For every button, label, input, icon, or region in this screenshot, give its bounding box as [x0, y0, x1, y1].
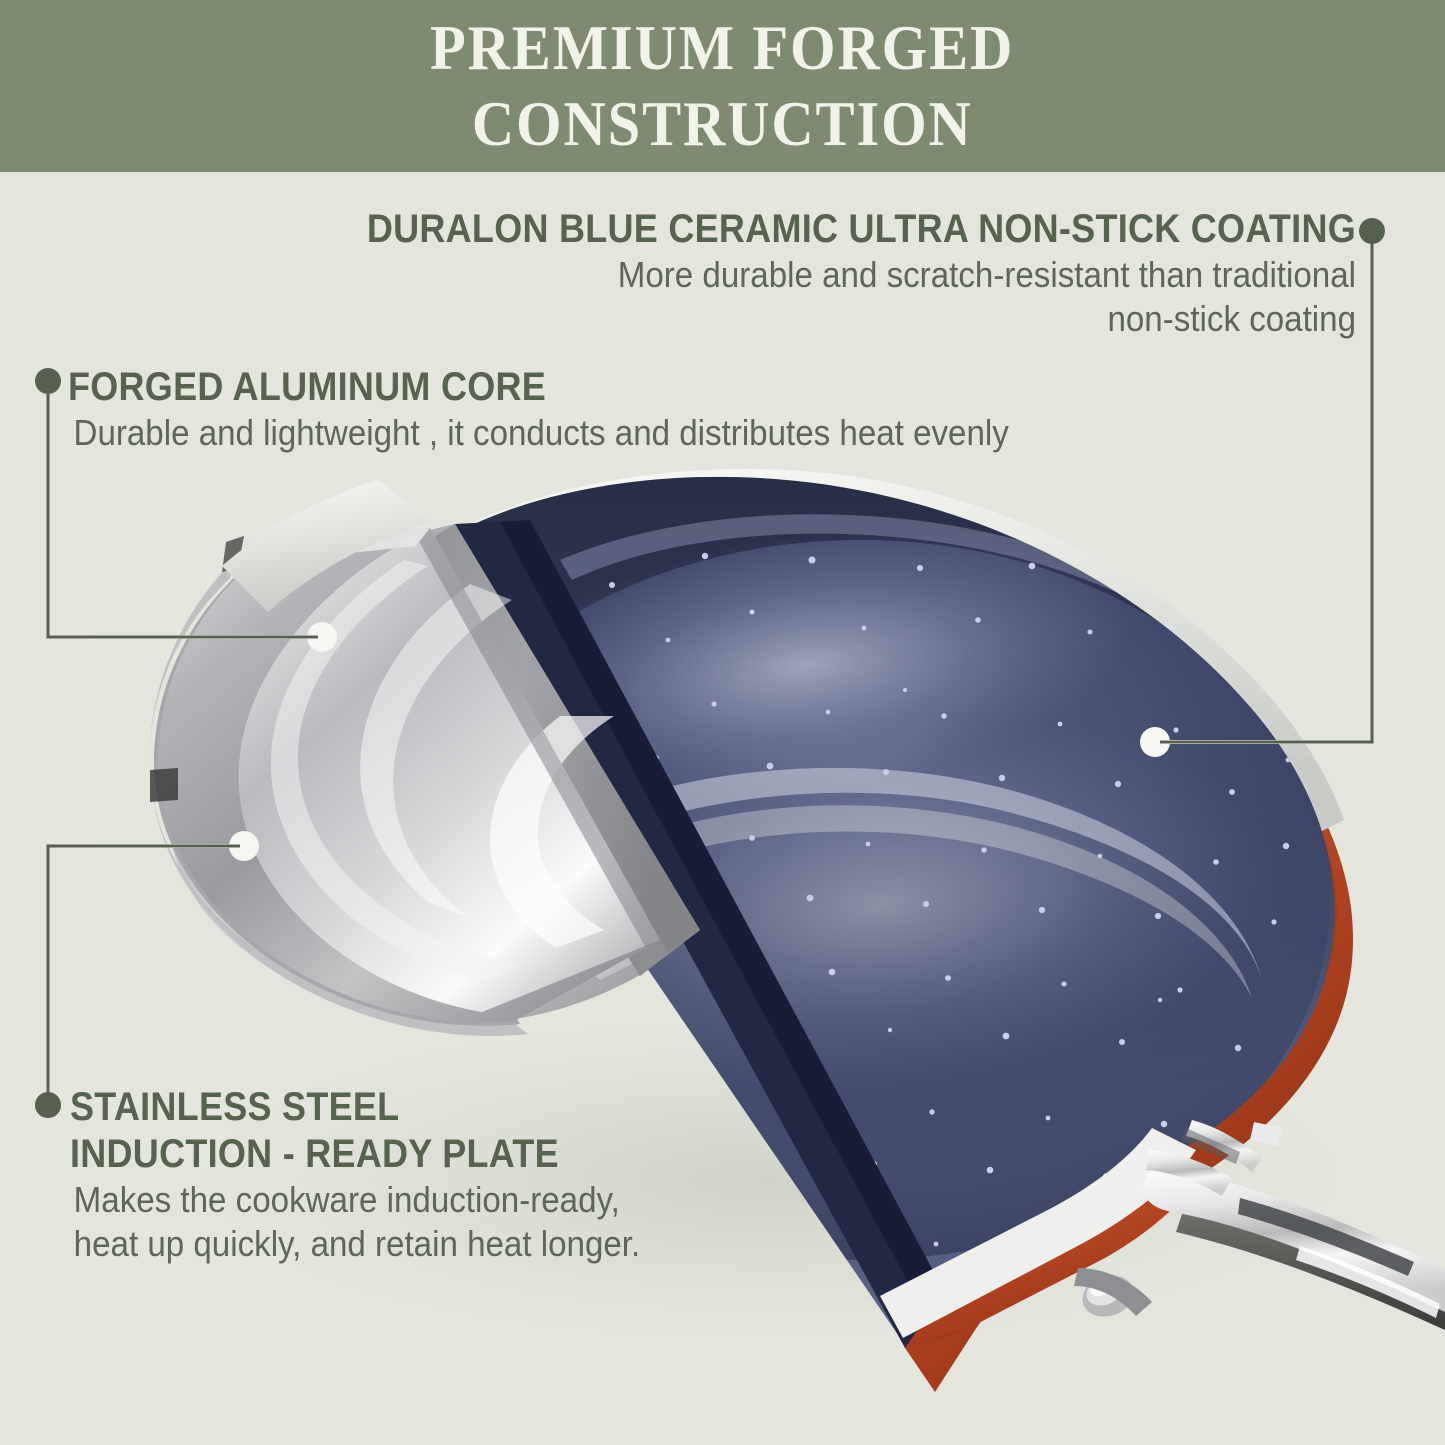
callout-coating: DURALON BLUE CERAMIC ULTRA NON-STICK COA… — [0, 206, 1356, 341]
core-marker-dot — [307, 622, 337, 652]
callout-steel-body-line1: Makes the cookware induction-ready, — [70, 1178, 861, 1222]
callout-steel-body-line2: heat up quickly, and retain heat longer. — [70, 1222, 861, 1266]
callout-coating-body-line1: More durable and scratch-resistant than … — [108, 253, 1356, 297]
header-banner: PREMIUM FORGED CONSTRUCTION — [0, 0, 1445, 172]
header-title-line1: PREMIUM FORGED — [430, 10, 1014, 86]
coating-marker-dot — [1140, 727, 1170, 757]
header-title-line2: CONSTRUCTION — [472, 86, 973, 162]
callout-coating-body-line2: non-stick coating — [108, 297, 1356, 341]
callout-core-heading: FORGED ALUMINUM CORE — [68, 364, 1238, 411]
infographic-canvas: PREMIUM FORGED CONSTRUCTION DURALON BLUE… — [0, 0, 1445, 1445]
steel-marker-dot — [229, 831, 259, 861]
callout-coating-heading: DURALON BLUE CERAMIC ULTRA NON-STICK COA… — [136, 206, 1356, 253]
callout-steel: STAINLESS STEEL INDUCTION - READY PLATE … — [70, 1084, 930, 1266]
callout-core-body-line1: Durable and lightweight , it conducts an… — [68, 411, 1264, 455]
callout-steel-heading-line1: STAINLESS STEEL — [70, 1084, 844, 1131]
callout-steel-heading-line2: INDUCTION - READY PLATE — [70, 1131, 844, 1178]
callout-core: FORGED ALUMINUM CORE Durable and lightwe… — [68, 364, 1368, 455]
